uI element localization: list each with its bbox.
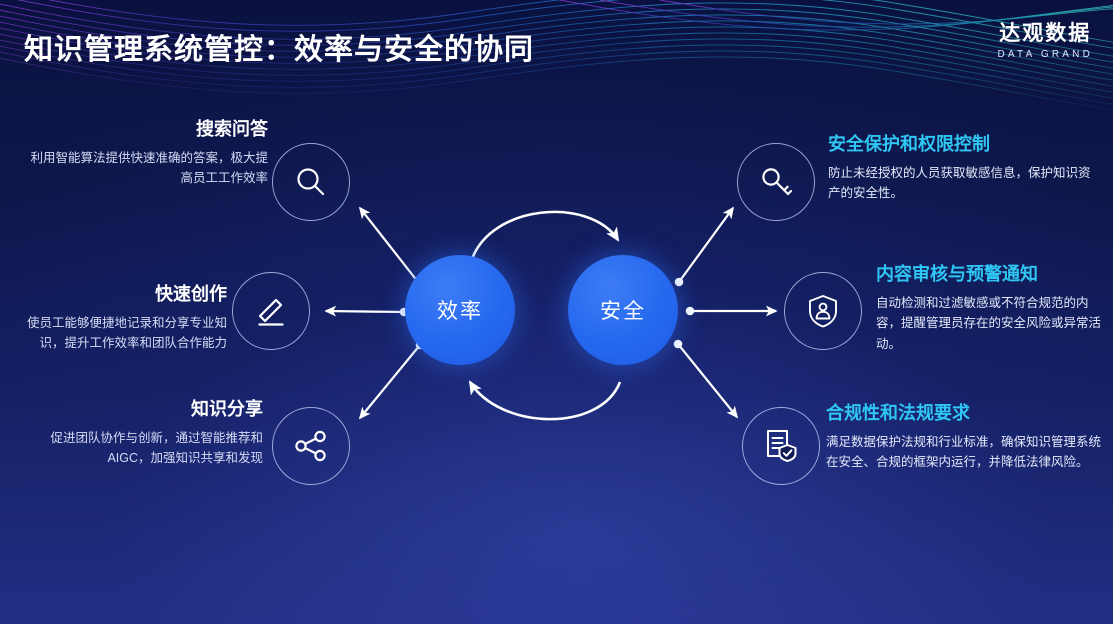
document-shield-icon: [762, 427, 800, 465]
arc-arrow-bottom: [470, 382, 620, 419]
feature-block-content-audit: 内容审核与预警通知 自动检测和过滤敏感或不符合规范的内容，提醒管理员存在的安全风…: [876, 263, 1108, 354]
slide-canvas: 知识管理系统管控：效率与安全的协同 达观数据 DATA GRAND: [0, 0, 1113, 624]
node-document-shield[interactable]: [742, 407, 820, 485]
key-icon: [757, 163, 795, 201]
brand-name-cn: 达观数据: [997, 22, 1093, 45]
feature-description: 防止未经授权的人员获取敏感信息，保护知识资产的安全性。: [828, 163, 1096, 204]
search-icon: [292, 163, 330, 201]
hub-efficiency-label: 效率: [437, 295, 483, 325]
hub-efficiency[interactable]: 效率: [405, 255, 515, 365]
node-create[interactable]: [232, 272, 310, 350]
feature-heading: 安全保护和权限控制: [828, 133, 1096, 156]
feature-block-share: 知识分享 促进团队协作与创新，通过智能推荐和AIGC，加强知识共享和发现: [18, 398, 263, 469]
feature-description: 利用智能算法提供快速准确的答案，极大提高员工工作效率: [28, 148, 268, 189]
feature-description: 满足数据保护法规和行业标准，确保知识管理系统在安全、合规的框架内运行，并降低法律…: [826, 432, 1104, 473]
share-icon: [292, 427, 330, 465]
shield-user-icon: [804, 292, 842, 330]
feature-block-create: 快速创作 使员工能够便捷地记录和分享专业知识，提升工作效率和团队合作能力: [12, 283, 227, 354]
node-share[interactable]: [272, 407, 350, 485]
node-shield-user[interactable]: [784, 272, 862, 350]
feature-heading: 合规性和法规要求: [826, 402, 1104, 425]
feature-block-compliance: 合规性和法规要求 满足数据保护法规和行业标准，确保知识管理系统在安全、合规的框架…: [826, 402, 1104, 473]
feature-heading: 搜索问答: [28, 118, 268, 141]
feature-description: 促进团队协作与创新，通过智能推荐和AIGC，加强知识共享和发现: [18, 428, 263, 469]
node-search[interactable]: [272, 143, 350, 221]
node-key[interactable]: [737, 143, 815, 221]
brand-name-en: DATA GRAND: [997, 49, 1093, 60]
page-title: 知识管理系统管控：效率与安全的协同: [24, 26, 534, 68]
feature-heading: 知识分享: [18, 398, 263, 421]
feature-description: 使员工能够便捷地记录和分享专业知识，提升工作效率和团队合作能力: [12, 313, 227, 354]
hub-security[interactable]: 安全: [568, 255, 678, 365]
feature-heading: 快速创作: [12, 283, 227, 306]
brand-logo: 达观数据 DATA GRAND: [997, 22, 1093, 60]
feature-description: 自动检测和过滤敏感或不符合规范的内容，提醒管理员存在的安全风险或异常活动。: [876, 293, 1108, 355]
hub-security-label: 安全: [600, 295, 646, 325]
pencil-icon: [252, 292, 290, 330]
feature-block-search: 搜索问答 利用智能算法提供快速准确的答案，极大提高员工工作效率: [28, 118, 268, 189]
arc-arrow-top: [471, 212, 618, 262]
feature-block-access-control: 安全保护和权限控制 防止未经授权的人员获取敏感信息，保护知识资产的安全性。: [828, 133, 1096, 204]
feature-heading: 内容审核与预警通知: [876, 263, 1108, 286]
